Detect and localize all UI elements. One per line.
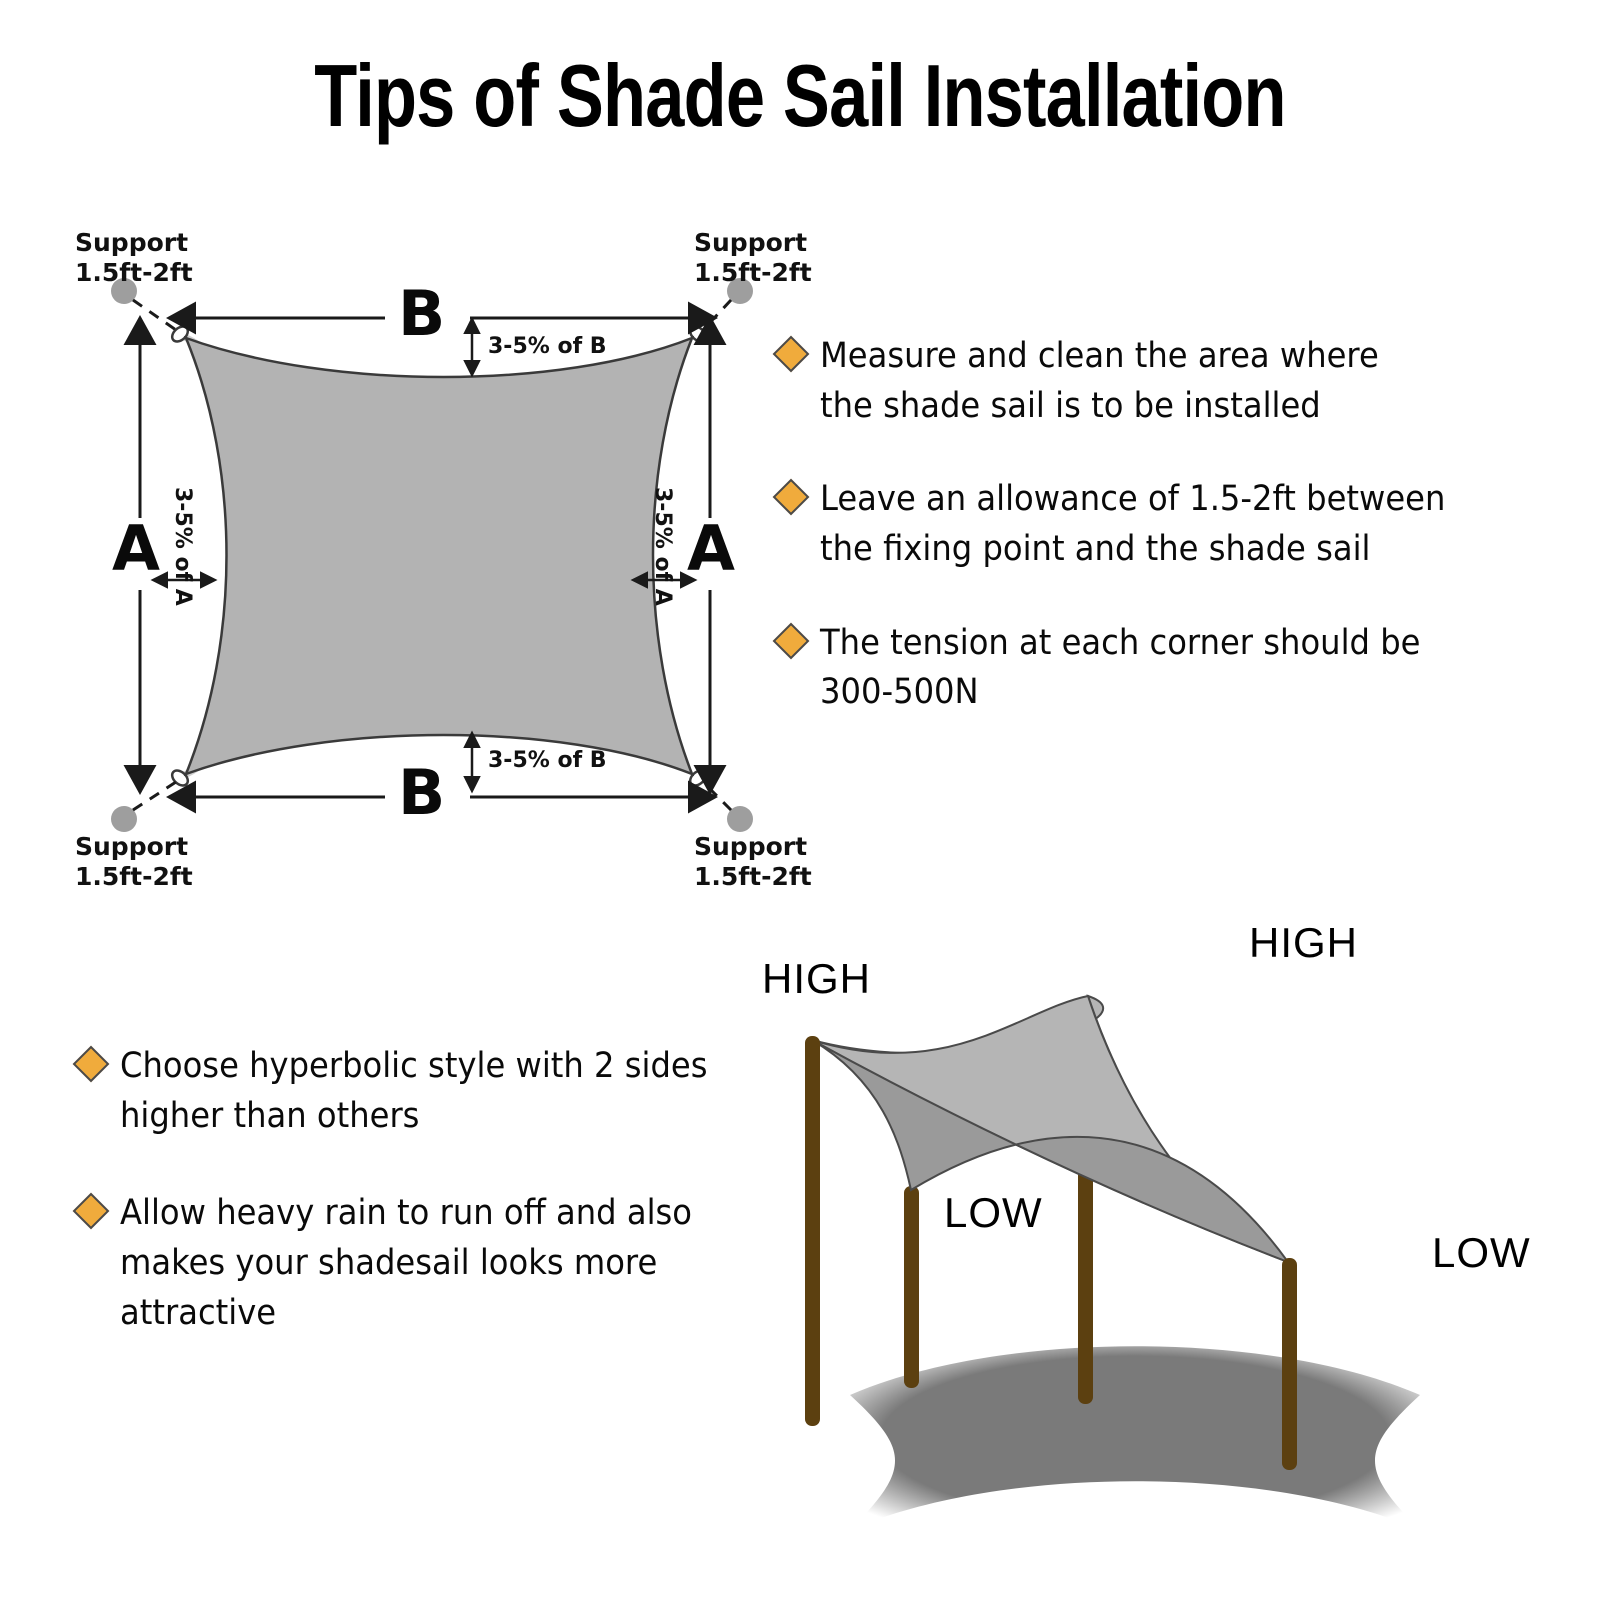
support-label-bottom-right: Support 1.5ft-2ft bbox=[694, 832, 812, 891]
infographic-page: Tips of Shade Sail Installation bbox=[0, 0, 1600, 1600]
list-item: Choose hyperbolic style with 2 sides hig… bbox=[78, 1042, 798, 1141]
post-label-low-right: LOW bbox=[1432, 1232, 1531, 1274]
tip-text: Measure and clean the area where the sha… bbox=[820, 332, 1379, 431]
post-high-right bbox=[1078, 996, 1093, 1404]
curvature-label-top: 3-5% of B bbox=[488, 336, 607, 358]
curvature-label-bottom: 3-5% of B bbox=[488, 750, 607, 772]
sail-facet-dark bbox=[812, 1040, 1288, 1262]
page-title: Tips of Shade Sail Installation bbox=[160, 52, 1440, 140]
dimension-letter-top-b: B bbox=[398, 283, 445, 345]
support-label-bottom-left: Support 1.5ft-2ft bbox=[75, 832, 193, 891]
diamond-bullet-icon bbox=[73, 1193, 110, 1230]
list-item: Leave an allowance of 1.5-2ft between th… bbox=[778, 475, 1578, 574]
list-item: Allow heavy rain to run off and also mak… bbox=[78, 1189, 798, 1338]
post-label-high-left: HIGH bbox=[762, 958, 871, 1000]
dimension-letter-right-a: A bbox=[687, 518, 735, 580]
post-low-left bbox=[904, 1186, 919, 1388]
post-high-left bbox=[805, 1036, 820, 1426]
diamond-bullet-icon bbox=[773, 336, 810, 373]
tips-list-bottom: Choose hyperbolic style with 2 sides hig… bbox=[78, 1042, 798, 1386]
support-label-top-left: Support 1.5ft-2ft bbox=[75, 228, 193, 287]
tip-text: Choose hyperbolic style with 2 sides hig… bbox=[120, 1042, 708, 1141]
tips-list-right: Measure and clean the area where the sha… bbox=[778, 332, 1578, 762]
post-label-high-right: HIGH bbox=[1249, 922, 1358, 964]
post-low-right bbox=[1282, 1258, 1297, 1470]
list-item: The tension at each corner should be 300… bbox=[778, 619, 1578, 718]
post-label-low-left: LOW bbox=[944, 1192, 1043, 1234]
curvature-label-left: 3-5% of A bbox=[171, 487, 193, 606]
ground-shadow bbox=[850, 1346, 1420, 1530]
list-item: Measure and clean the area where the sha… bbox=[778, 332, 1578, 431]
dimension-letter-bottom-b: B bbox=[398, 762, 445, 824]
dimension-letter-left-a: A bbox=[112, 518, 160, 580]
support-dashed-lines bbox=[133, 300, 731, 810]
sail-corner-rings bbox=[169, 324, 708, 789]
shade-sail-shape bbox=[186, 338, 692, 774]
support-label-top-right: Support 1.5ft-2ft bbox=[694, 228, 812, 287]
diamond-bullet-icon bbox=[773, 479, 810, 516]
curvature-label-right: 3-5% of A bbox=[651, 487, 673, 606]
diamond-bullet-icon bbox=[773, 622, 810, 659]
sail-facet-light bbox=[812, 996, 1288, 1262]
tip-text: The tension at each corner should be 300… bbox=[820, 619, 1420, 718]
tip-text: Allow heavy rain to run off and also mak… bbox=[120, 1189, 692, 1338]
tip-text: Leave an allowance of 1.5-2ft between th… bbox=[820, 475, 1445, 574]
diamond-bullet-icon bbox=[73, 1046, 110, 1083]
sail-hem bbox=[185, 336, 276, 776]
